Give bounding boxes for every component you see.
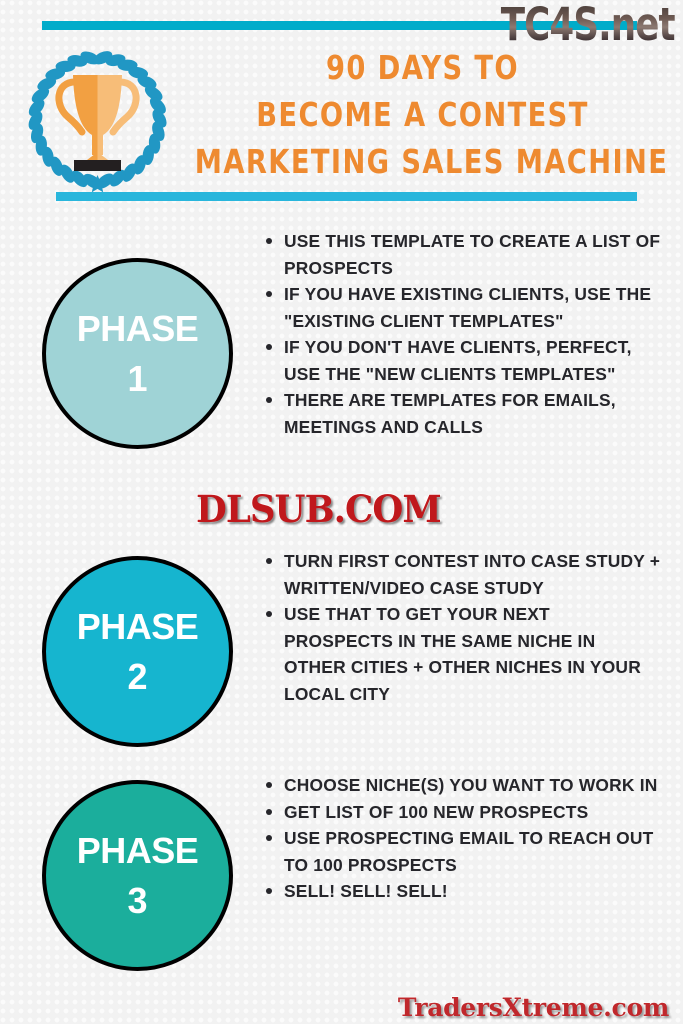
phase-label-3: PHASE	[77, 833, 199, 869]
phase-section-3: PHASE 3 CHOOSE NICHE(S) YOU WANT TO WORK…	[0, 772, 683, 972]
phase-number-2: 2	[127, 659, 147, 695]
phase-badge-3: PHASE 3	[42, 780, 233, 971]
page-title: 90 DAYS TO BECOME A CONTEST MARKETING SA…	[175, 45, 670, 186]
phase-number-3: 3	[127, 883, 147, 919]
list-item: TURN FIRST CONTEST INTO CASE STUDY + WRI…	[262, 548, 662, 601]
header-bottom-rule	[56, 192, 637, 201]
list-item: USE PROSPECTING EMAIL TO REACH OUT TO 10…	[262, 825, 662, 878]
phase-section-2: PHASE 2 TURN FIRST CONTEST INTO CASE STU…	[0, 548, 683, 758]
phase-number-1: 1	[127, 361, 147, 397]
title-line-1: 90 DAYS TO	[195, 45, 650, 92]
phase-badge-2: PHASE 2	[42, 556, 233, 747]
title-line-3: MARKETING SALES MACHINE	[195, 139, 650, 186]
phase-section-1: PHASE 1 USE THIS TEMPLATE TO CREATE A LI…	[0, 228, 683, 498]
list-item: USE THAT TO GET YOUR NEXT PROSPECTS IN T…	[262, 601, 662, 707]
phase-label-1: PHASE	[77, 311, 199, 347]
watermark-tc4s: TC4S.net	[501, 0, 675, 51]
watermark-tradersxtreme: TradersXtreme.com	[398, 993, 669, 1022]
title-line-2: BECOME A CONTEST	[195, 92, 650, 139]
infographic-poster: 90 DAYS TO BECOME A CONTEST MARKETING SA…	[0, 0, 683, 1024]
list-item: USE THIS TEMPLATE TO CREATE A LIST OF PR…	[262, 228, 662, 281]
list-item: SELL! SELL! SELL!	[262, 878, 662, 905]
list-item: IF YOU HAVE EXISTING CLIENTS, USE THE "E…	[262, 281, 662, 334]
list-item: CHOOSE NICHE(S) YOU WANT TO WORK IN	[262, 772, 662, 799]
phase-label-2: PHASE	[77, 609, 199, 645]
phase-bullets-3: CHOOSE NICHE(S) YOU WANT TO WORK IN GET …	[262, 772, 662, 905]
list-item: THERE ARE TEMPLATES FOR EMAILS, MEETINGS…	[262, 387, 662, 440]
watermark-dlsub: DLSUB.COM	[196, 487, 441, 531]
phase-bullets-1: USE THIS TEMPLATE TO CREATE A LIST OF PR…	[262, 228, 662, 440]
phase-badge-1: PHASE 1	[42, 258, 233, 449]
phase-bullets-2: TURN FIRST CONTEST INTO CASE STUDY + WRI…	[262, 548, 662, 707]
list-item: IF YOU DON'T HAVE CLIENTS, PERFECT, USE …	[262, 334, 662, 387]
trophy-laurel-wreath-logo	[20, 42, 175, 197]
list-item: GET LIST OF 100 NEW PROSPECTS	[262, 799, 662, 826]
